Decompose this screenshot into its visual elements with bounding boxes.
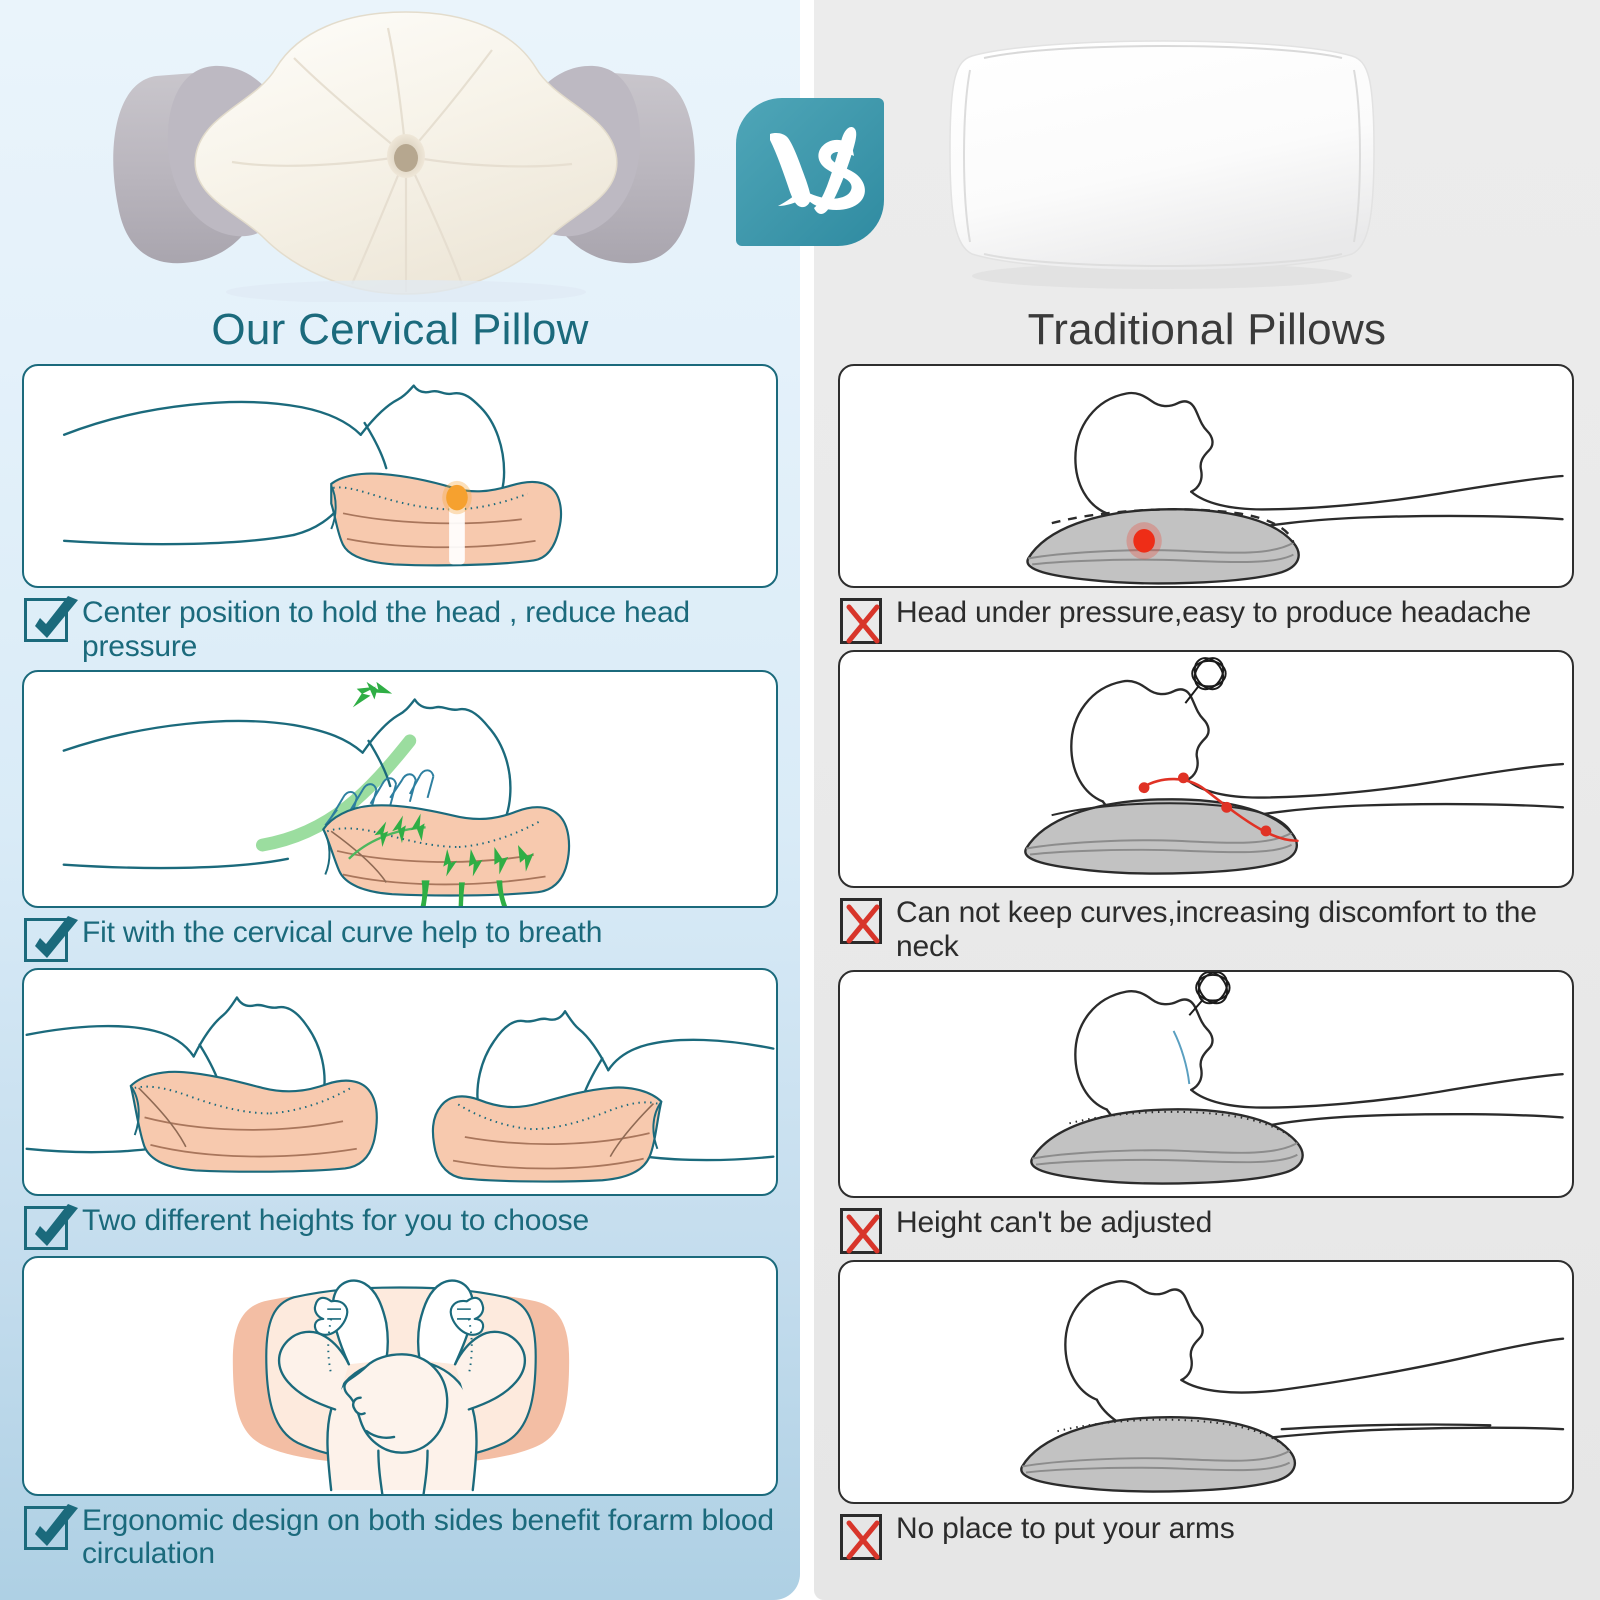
left-feature-caption-2: Fit with the cervical curve help to brea… [22, 908, 778, 968]
left-illustration-3 [22, 968, 778, 1196]
right-feature-text-4: No place to put your arms [896, 1512, 1235, 1546]
right-illustration-4 [838, 1260, 1574, 1504]
traditional-pillow-image [924, 14, 1394, 294]
cervical-pillow-photo [0, 0, 800, 302]
pillow-comparison-infographic: Our Cervical Pillow [0, 0, 1600, 1600]
right-illustration-3 [838, 970, 1574, 1198]
vs-brush-text [750, 112, 870, 232]
left-feature-text-1: Center position to hold the head , reduc… [82, 596, 776, 663]
cervical-pillow-image [96, 6, 716, 302]
right-feature-text-1: Head under pressure,easy to produce head… [896, 596, 1531, 630]
check-icon [24, 918, 68, 962]
right-feature-caption-1: Head under pressure,easy to produce head… [838, 588, 1574, 650]
traditional-pillow-photo [814, 0, 1600, 302]
left-illustration-2 [22, 670, 778, 908]
left-feature-text-2: Fit with the cervical curve help to brea… [82, 916, 602, 950]
right-feature-caption-4: No place to put your arms [838, 1504, 1574, 1566]
left-illustration-4 [22, 1256, 778, 1496]
check-icon [24, 1506, 68, 1550]
right-feature-text-2: Can not keep curves,increasing discomfor… [896, 896, 1572, 963]
left-feature-text-3: Two different heights for you to choose [82, 1204, 589, 1238]
check-icon [24, 1206, 68, 1250]
left-feature-caption-4: Ergonomic design on both sides benefit f… [22, 1496, 778, 1577]
right-feature-caption-2: Can not keep curves,increasing discomfor… [838, 888, 1574, 969]
cross-icon [840, 898, 882, 944]
left-feature-stack: Center position to hold the head , reduc… [0, 354, 800, 1576]
right-feature-stack: Head under pressure,easy to produce head… [814, 354, 1600, 1565]
page-title-right: Traditional Pillows [814, 302, 1600, 354]
right-feature-caption-3: Height can't be adjusted [838, 1198, 1574, 1260]
cross-icon [840, 1208, 882, 1254]
check-icon [24, 598, 68, 642]
left-column-our-pillow: Our Cervical Pillow [0, 0, 800, 1600]
right-illustration-1 [838, 364, 1574, 588]
cross-icon [840, 598, 882, 644]
right-column-traditional: Traditional Pillows [814, 0, 1600, 1600]
left-illustration-1 [22, 364, 778, 588]
page-title-left: Our Cervical Pillow [0, 302, 800, 354]
left-feature-caption-1: Center position to hold the head , reduc… [22, 588, 778, 669]
cross-icon [840, 1514, 882, 1560]
left-feature-caption-3: Two different heights for you to choose [22, 1196, 778, 1256]
vs-badge [736, 98, 884, 246]
right-feature-text-3: Height can't be adjusted [896, 1206, 1212, 1240]
left-feature-text-4: Ergonomic design on both sides benefit f… [82, 1504, 776, 1571]
right-illustration-2 [838, 650, 1574, 888]
